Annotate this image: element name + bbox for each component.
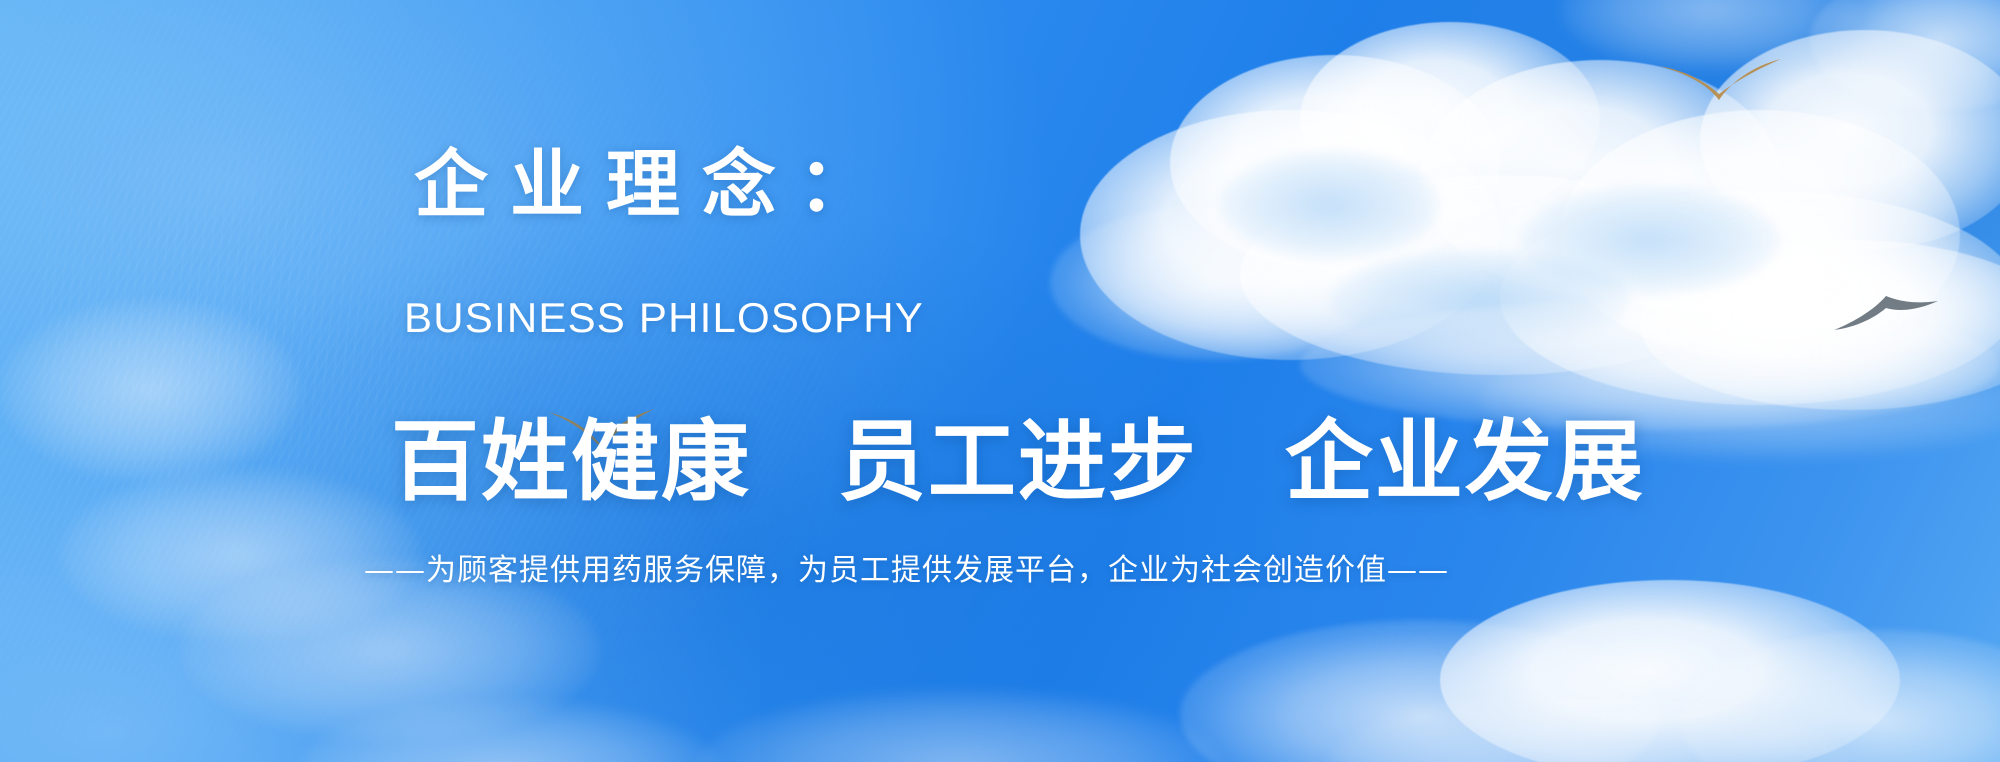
slogan: 百姓健康 员工进步 企业发展 — [391, 418, 1645, 506]
page-subtitle-english: BUSINESS PHILOSOPHY — [404, 297, 924, 339]
banner-text-content: 企业理念： BUSINESS PHILOSOPHY 百姓健康 员工进步 企业发展… — [0, 0, 2000, 762]
tagline: ——为顾客提供用药服务保障，为员工提供发展平台，企业为社会创造价值—— — [364, 556, 1449, 586]
slogan-segment-2: 员工进步 — [838, 412, 1198, 511]
business-philosophy-banner: 企业理念： BUSINESS PHILOSOPHY 百姓健康 员工进步 企业发展… — [0, 0, 2000, 762]
slogan-segment-1: 百姓健康 — [391, 412, 751, 511]
page-title-chinese: 企业理念： — [414, 148, 894, 222]
slogan-segment-3: 企业发展 — [1285, 412, 1645, 511]
